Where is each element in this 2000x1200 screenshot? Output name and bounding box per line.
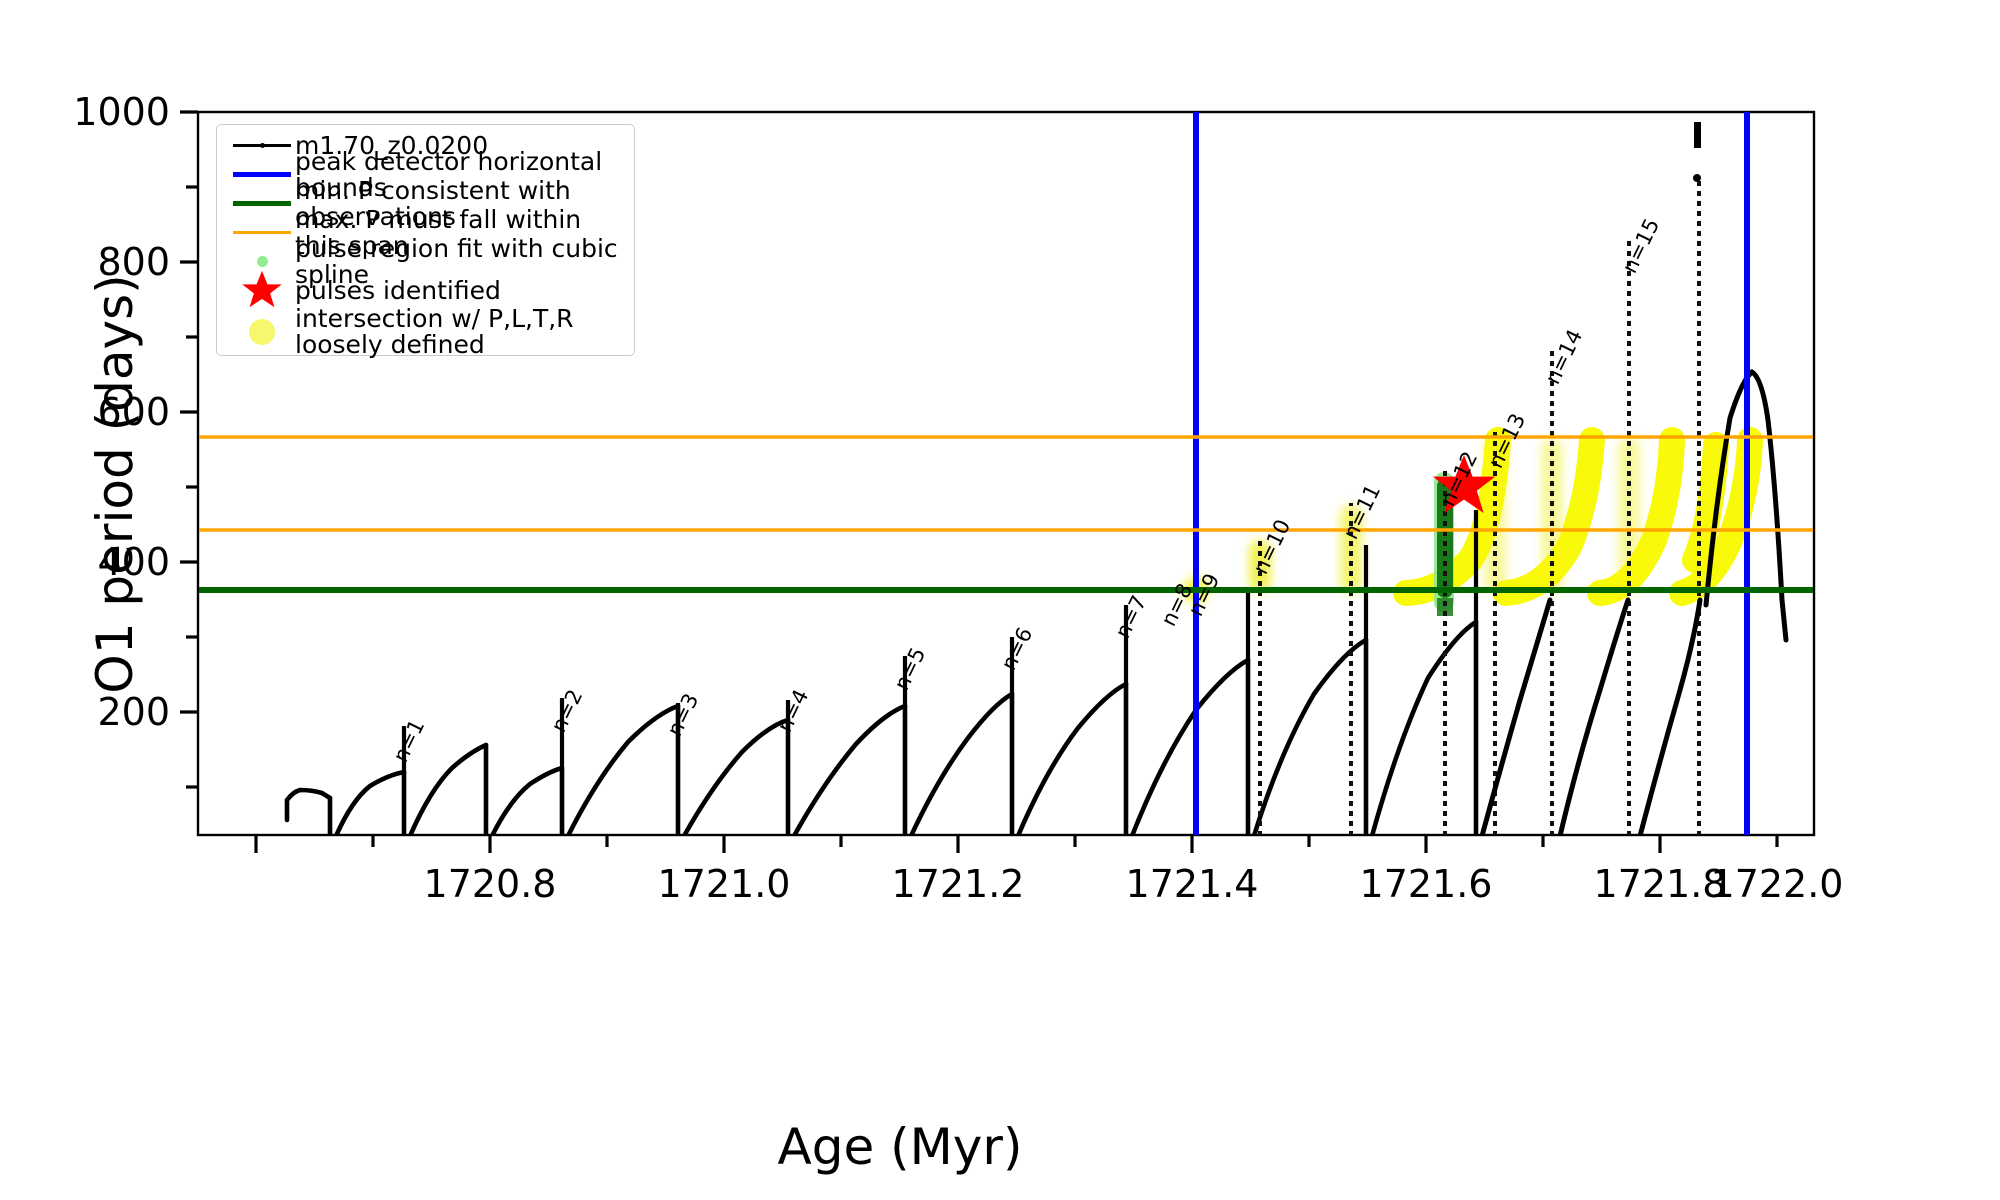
- x-tick-label: 1722.0: [1658, 862, 1896, 906]
- green-line-icon: [229, 189, 295, 218]
- blue-line-icon: [229, 160, 295, 189]
- x-axis-ticks: [256, 835, 1777, 853]
- x-axis-label: Age (Myr): [0, 1118, 1800, 1176]
- y-axis-ticks: [180, 112, 198, 787]
- legend: m1.70_z0.0200 peak detector horizontal b…: [216, 124, 635, 356]
- x-tick-label: 1720.8: [371, 862, 609, 906]
- yellow-blob-icon: [229, 305, 295, 359]
- red-star-icon: [229, 276, 295, 305]
- legend-label: intersection w/ P,L,T,R loosely defined: [295, 306, 574, 358]
- outlier-points: [1693, 122, 1701, 182]
- figure-canvas: 1000 800 600 400 200 1720.8 1721.0 1721.…: [0, 0, 2000, 1200]
- series-m170-z00200: [287, 622, 1476, 836]
- x-tick-label: 1721.0: [605, 862, 843, 906]
- line-dot-marker-icon: [229, 131, 295, 160]
- x-tick-label: 1721.4: [1073, 862, 1311, 906]
- legend-item-intersection[interactable]: intersection w/ P,L,T,R loosely defined: [217, 305, 634, 359]
- legend-label: pulses identified: [295, 278, 501, 304]
- y-tick-label: 1000: [30, 90, 170, 134]
- y-axis-label: O1 period (days): [86, 164, 144, 804]
- x-tick-label: 1721.2: [839, 862, 1077, 906]
- orange-line-icon: [229, 218, 295, 247]
- x-tick-label: 1721.6: [1307, 862, 1545, 906]
